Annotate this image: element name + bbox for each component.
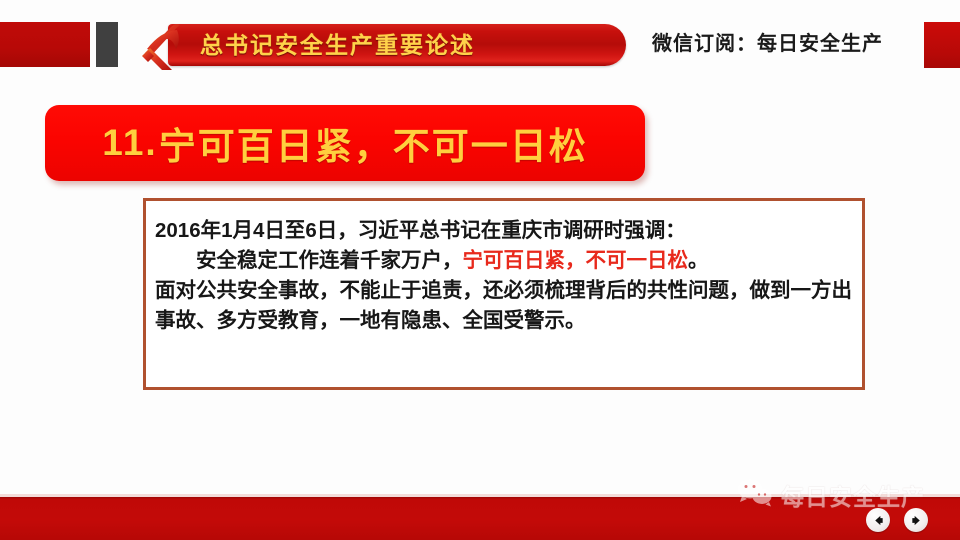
quote-line-1: 2016年1月4日至6日，习近平总书记在重庆市调研时强调： [155,216,855,246]
header-right-red-block [924,22,960,68]
title-text: 宁可百日紧，不可一日松 [159,116,588,170]
header-banner-title: 总书记安全生产重要论述 [200,24,610,66]
arrow-right-icon [910,514,923,527]
quote-line-2-prefix: 安全稳定工作连着千家万户， [196,249,463,272]
prev-slide-button[interactable] [866,508,890,532]
arrow-left-icon [872,514,885,527]
header-gray-block [96,22,118,67]
next-slide-button[interactable] [904,508,928,532]
party-emblem-hammer-sickle-icon [136,16,190,70]
header-wechat-subscribe-label: 微信订阅：每日安全生产 [652,27,883,56]
quote-line-2: 安全稳定工作连着千家万户，宁可百日紧，不可一日松。 [155,246,855,276]
page-title: 11.宁可百日紧，不可一日松 [45,105,645,181]
watermark-label: 每日安全生产 [781,478,925,512]
quote-text: 2016年1月4日至6日，习近平总书记在重庆市调研时强调： 安全稳定工作连着千家… [155,216,855,336]
quote-line-2-suffix: 。 [688,249,709,272]
title-number: 11. [102,122,157,164]
slide-navigation[interactable] [866,508,928,532]
wechat-icon [735,477,775,512]
quote-line-3: 面对公共安全事故，不能止于追责，还必须梳理背后的共性问题，做到一方出事故、多方受… [155,276,855,336]
header-left-red-block [0,22,90,67]
slide-canvas: 总书记安全生产重要论述 微信订阅：每日安全生产 11.宁可百日紧，不可一日松 2… [0,0,960,540]
quote-highlight: 宁可百日紧，不可一日松 [463,249,689,272]
watermark: 每日安全生产 [735,477,925,512]
